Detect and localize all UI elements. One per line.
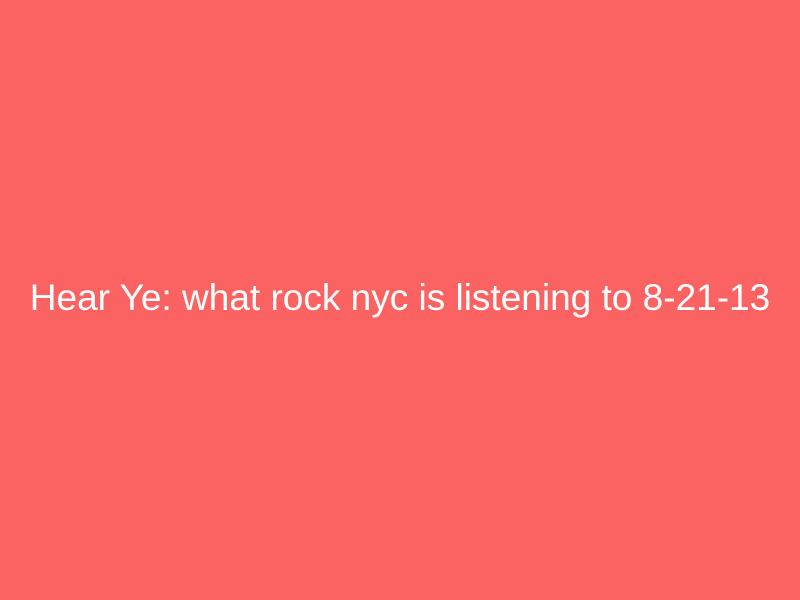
placeholder-card: Hear Ye: what rock nyc is listening to 8… bbox=[0, 0, 800, 600]
page-title: Hear Ye: what rock nyc is listening to 8… bbox=[24, 275, 776, 320]
